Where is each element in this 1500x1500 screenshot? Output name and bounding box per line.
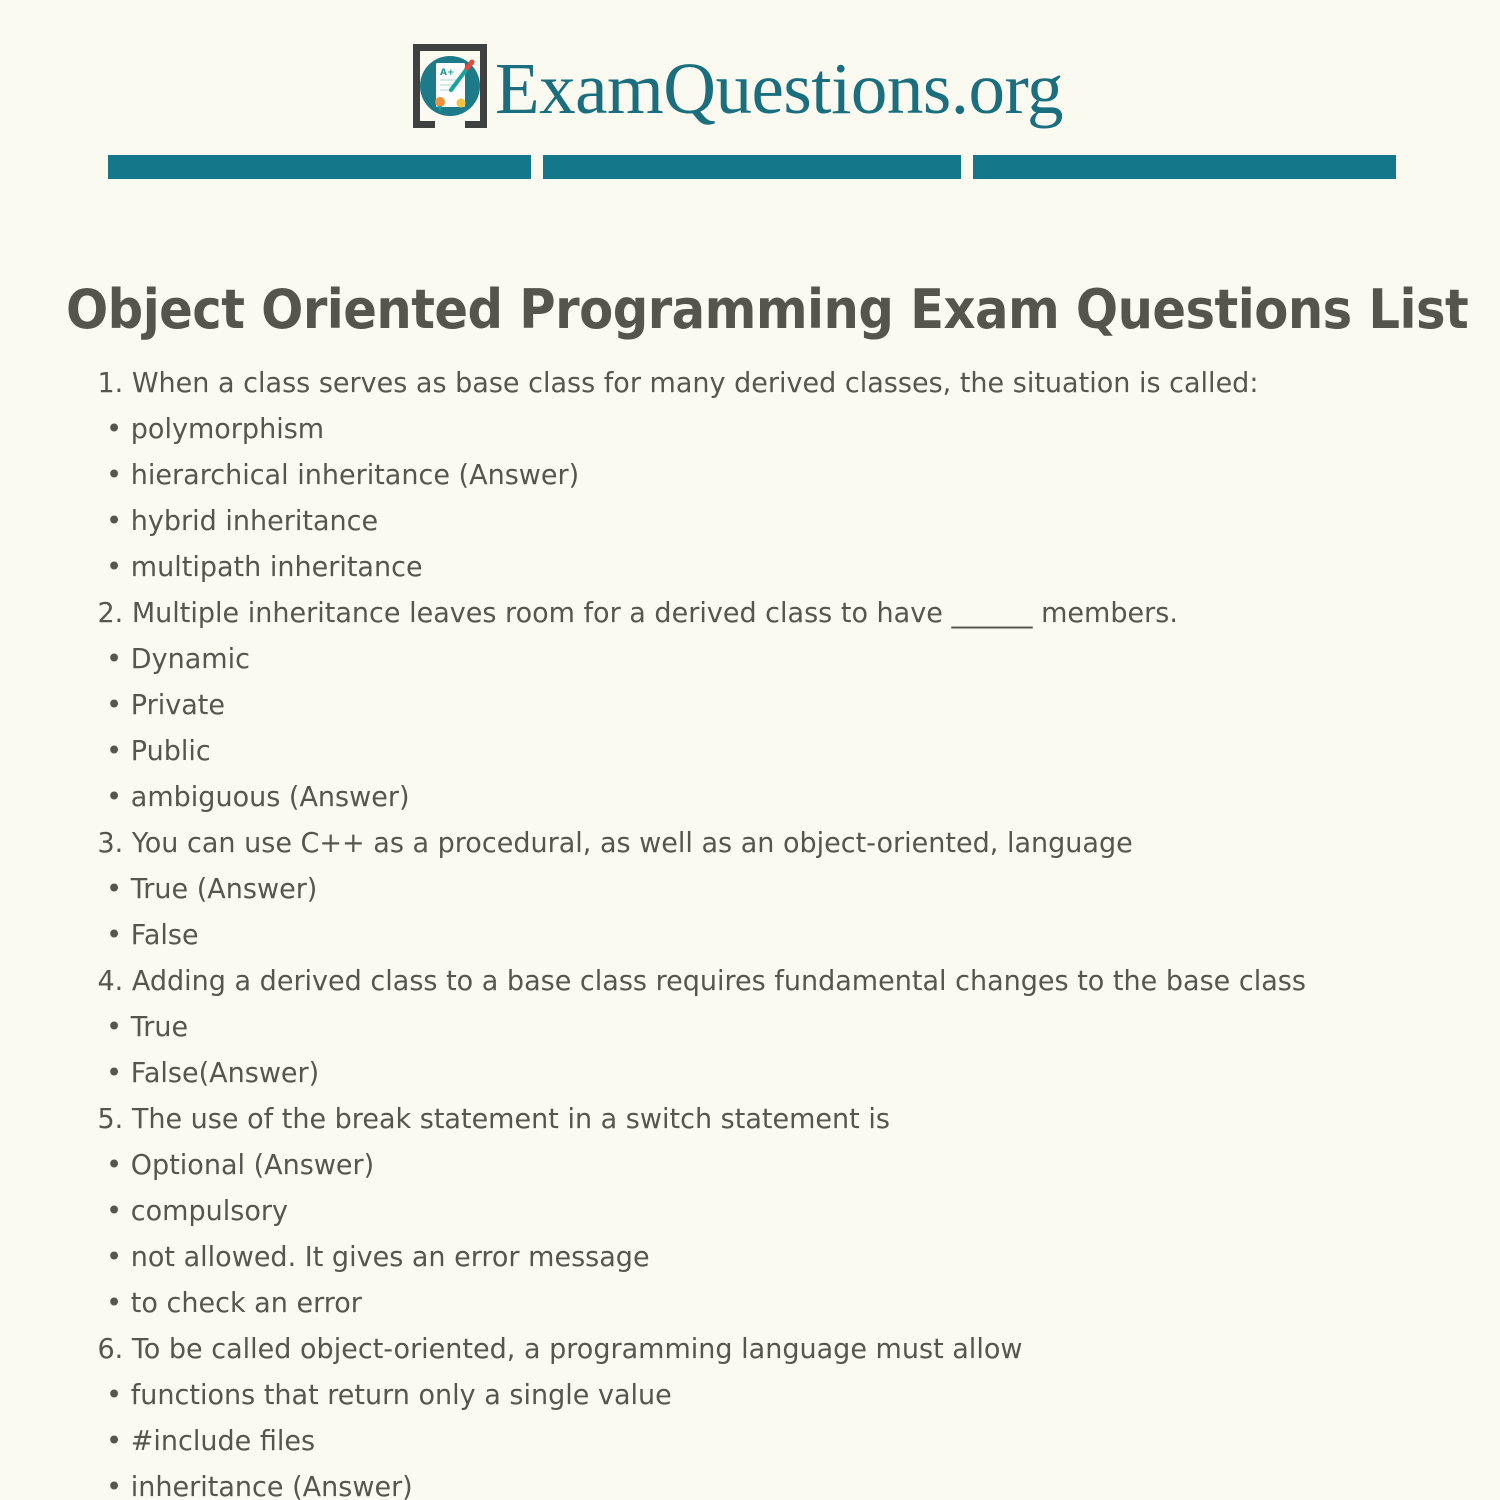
answer-option[interactable]: •Dynamic bbox=[0, 636, 1448, 682]
answer-option[interactable]: •compulsory bbox=[0, 1188, 1448, 1234]
question-block: 4. Adding a derived class to a base clas… bbox=[0, 958, 1500, 1096]
bullet-icon: • bbox=[106, 912, 122, 958]
site-wordmark: ExamQuestions.org bbox=[495, 52, 1063, 125]
site-header: A+ bbox=[0, 0, 1500, 148]
exam-paper-icon: A+ bbox=[411, 42, 491, 130]
bullet-icon: • bbox=[106, 452, 122, 498]
bullet-icon: • bbox=[106, 1004, 122, 1050]
answer-option-label: multipath inheritance bbox=[131, 550, 423, 583]
question-block: 5. The use of the break statement in a s… bbox=[0, 1096, 1500, 1326]
rule-bar-middle bbox=[543, 155, 961, 179]
answer-option-label: polymorphism bbox=[131, 412, 324, 445]
bullet-icon: • bbox=[106, 1234, 122, 1280]
question-text: 4. Adding a derived class to a base clas… bbox=[0, 958, 1448, 1004]
answer-option[interactable]: •Public bbox=[0, 728, 1448, 774]
answer-option-label: Public bbox=[131, 734, 211, 767]
question-text: 2. Multiple inheritance leaves room for … bbox=[0, 590, 1448, 636]
answer-option[interactable]: •Optional (Answer) bbox=[0, 1142, 1448, 1188]
answer-option[interactable]: •hybrid inheritance bbox=[0, 498, 1448, 544]
answer-option[interactable]: •hierarchical inheritance (Answer) bbox=[0, 452, 1448, 498]
question-block: 1. When a class serves as base class for… bbox=[0, 360, 1500, 590]
answer-option-label: to check an error bbox=[131, 1286, 362, 1319]
question-text: 5. The use of the break statement in a s… bbox=[0, 1096, 1448, 1142]
answer-option-label: True (Answer) bbox=[131, 872, 318, 905]
question-text: 1. When a class serves as base class for… bbox=[0, 360, 1448, 406]
bullet-icon: • bbox=[106, 728, 122, 774]
bullet-icon: • bbox=[106, 1188, 122, 1234]
answer-option[interactable]: •ambiguous (Answer) bbox=[0, 774, 1448, 820]
bullet-icon: • bbox=[106, 774, 122, 820]
answer-option-label: False bbox=[131, 918, 199, 951]
answer-option-label: False(Answer) bbox=[131, 1056, 319, 1089]
answer-option[interactable]: •functions that return only a single val… bbox=[0, 1372, 1448, 1418]
rule-bar-left bbox=[108, 155, 531, 179]
answer-option[interactable]: •inheritance (Answer) bbox=[0, 1464, 1448, 1500]
answer-option-label: Dynamic bbox=[131, 642, 250, 675]
question-list: 1. When a class serves as base class for… bbox=[0, 360, 1500, 1500]
question-block: 2. Multiple inheritance leaves room for … bbox=[0, 590, 1500, 820]
bullet-icon: • bbox=[106, 866, 122, 912]
answer-option[interactable]: •not allowed. It gives an error message bbox=[0, 1234, 1448, 1280]
answer-option[interactable]: •True bbox=[0, 1004, 1448, 1050]
bullet-icon: • bbox=[106, 498, 122, 544]
question-block: 6. To be called object-oriented, a progr… bbox=[0, 1326, 1500, 1500]
bullet-icon: • bbox=[106, 1280, 122, 1326]
header-divider bbox=[0, 155, 1500, 179]
answer-option[interactable]: •True (Answer) bbox=[0, 866, 1448, 912]
answer-option[interactable]: •False(Answer) bbox=[0, 1050, 1448, 1096]
question-block: 3. You can use C++ as a procedural, as w… bbox=[0, 820, 1500, 958]
answer-option-label: hybrid inheritance bbox=[131, 504, 378, 537]
bullet-icon: • bbox=[106, 1142, 122, 1188]
question-text: 6. To be called object-oriented, a progr… bbox=[0, 1326, 1448, 1372]
answer-option[interactable]: •Private bbox=[0, 682, 1448, 728]
answer-option[interactable]: •to check an error bbox=[0, 1280, 1448, 1326]
answer-option-label: ambiguous (Answer) bbox=[131, 780, 410, 813]
answer-option-label: inheritance (Answer) bbox=[131, 1470, 413, 1500]
answer-option[interactable]: •#include files bbox=[0, 1418, 1448, 1464]
answer-option-label: Private bbox=[131, 688, 225, 721]
svg-text:A+: A+ bbox=[440, 68, 455, 78]
rule-bar-right bbox=[973, 155, 1396, 179]
answer-option[interactable]: •False bbox=[0, 912, 1448, 958]
page-title: Object Oriented Programming Exam Questio… bbox=[66, 278, 1468, 341]
site-logo[interactable]: A+ bbox=[411, 38, 1063, 134]
answer-option[interactable]: •multipath inheritance bbox=[0, 544, 1448, 590]
bullet-icon: • bbox=[106, 1372, 122, 1418]
answer-option-label: Optional (Answer) bbox=[131, 1148, 374, 1181]
bullet-icon: • bbox=[106, 1418, 122, 1464]
answer-option[interactable]: •polymorphism bbox=[0, 406, 1448, 452]
bullet-icon: • bbox=[106, 406, 122, 452]
answer-option-label: hierarchical inheritance (Answer) bbox=[131, 458, 579, 491]
answer-option-label: not allowed. It gives an error message bbox=[131, 1240, 650, 1273]
question-text: 3. You can use C++ as a procedural, as w… bbox=[0, 820, 1448, 866]
bullet-icon: • bbox=[106, 682, 122, 728]
bullet-icon: • bbox=[106, 1050, 122, 1096]
answer-option-label: functions that return only a single valu… bbox=[131, 1378, 672, 1411]
bullet-icon: • bbox=[106, 636, 122, 682]
answer-option-label: compulsory bbox=[131, 1194, 288, 1227]
exam-questions-page: A+ bbox=[0, 0, 1500, 1500]
bullet-icon: • bbox=[106, 544, 122, 590]
answer-option-label: #include files bbox=[131, 1424, 315, 1457]
answer-option-label: True bbox=[131, 1010, 188, 1043]
bullet-icon: • bbox=[106, 1464, 122, 1500]
